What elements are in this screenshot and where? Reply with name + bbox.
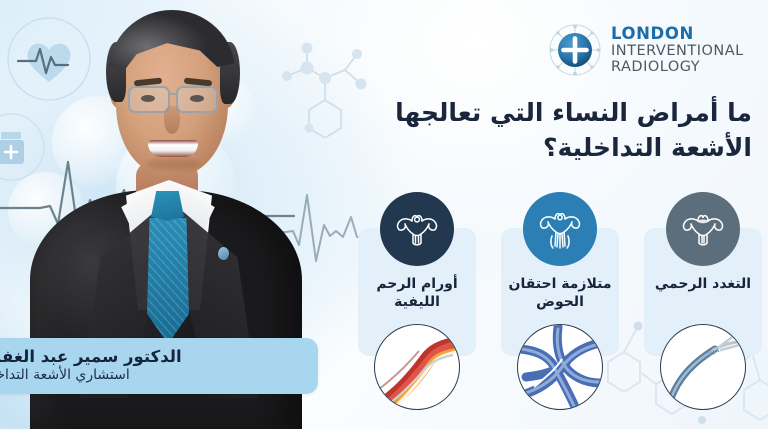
artery-catheter-illustration: [374, 324, 460, 410]
uterus-icon: [666, 192, 740, 266]
brand-logo[interactable]: LONDON INTERVENTIONAL RADIOLOGY: [548, 22, 760, 78]
brand-line-1: LONDON: [611, 25, 744, 43]
condition-card-label: التغدد الرحمي: [648, 276, 758, 294]
pelvic-veins-illustration: [517, 324, 603, 410]
eyeglasses-bridge: [169, 93, 178, 95]
nose: [164, 106, 180, 134]
brand-line-2: INTERVENTIONAL: [611, 43, 744, 59]
poster-canvas: الدكتور سمير عبد الغفار، استشاري الأشعة …: [0, 0, 768, 429]
uterus-icon: [380, 192, 454, 266]
condition-card-label: متلازمة احتقان الحوض: [505, 276, 615, 311]
doctor-name: الدكتور سمير عبد الغفار،: [0, 347, 182, 366]
smile: [148, 140, 198, 157]
lapel-pin: [218, 247, 229, 260]
condition-cards: أورام الرحم الليفية: [358, 228, 762, 358]
condition-card-label: أورام الرحم الليفية: [362, 276, 472, 311]
doctor-title: استشاري الأشعة التداخلية: [0, 367, 130, 385]
doctor-name-banner: الدكتور سمير عبد الغفار، استشاري الأشعة …: [0, 338, 318, 394]
condition-card[interactable]: متلازمة احتقان الحوض: [501, 228, 619, 356]
brand-logo-text: LONDON INTERVENTIONAL RADIOLOGY: [611, 25, 744, 76]
catheter-wire-illustration: [660, 324, 746, 410]
uterus-icon: [523, 192, 597, 266]
medical-cross-circle-icon: [548, 23, 602, 77]
condition-card[interactable]: التغدد الرحمي: [644, 228, 762, 356]
page-title: ما أمراض النساء التي تعالجها الأشعة التد…: [332, 96, 752, 165]
chin-shadow: [146, 158, 200, 170]
brand-line-3: RADIOLOGY: [611, 59, 744, 75]
condition-card[interactable]: أورام الرحم الليفية: [358, 228, 476, 356]
necktie-knot: [151, 191, 184, 221]
eyeglasses-lens-right: [176, 86, 218, 113]
eyeglasses-lens-left: [128, 86, 170, 113]
